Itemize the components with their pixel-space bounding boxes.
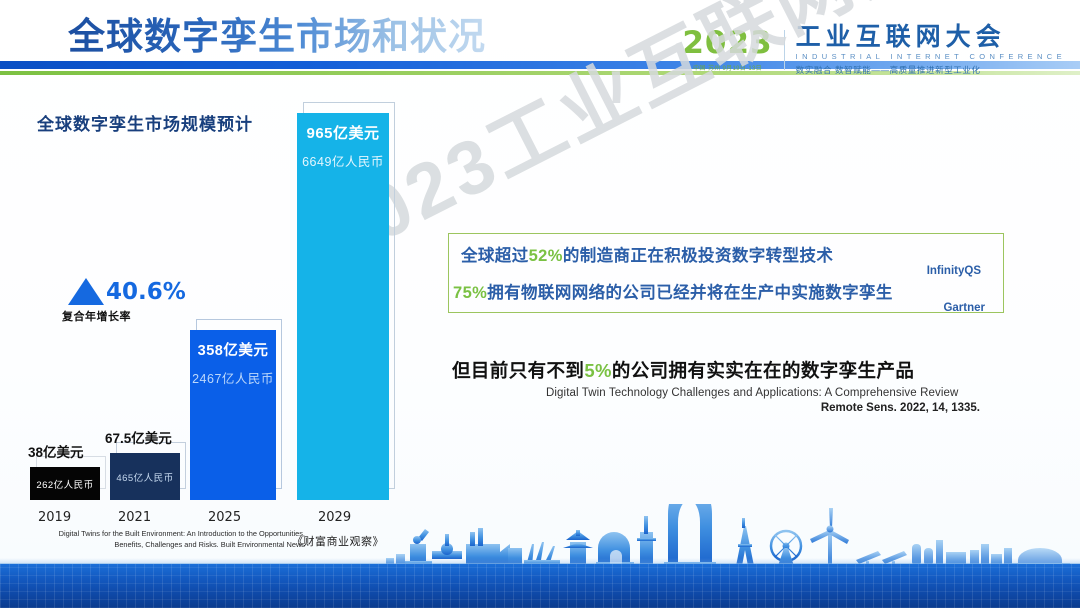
logo-date: 中国·苏州 9月19日-13日	[682, 63, 772, 72]
bar-body: 965亿美元 6649亿人民币	[297, 113, 389, 500]
cagr-label: 复合年增长率	[62, 308, 131, 324]
stats-line2-post: 拥有物联网网络的公司已经并将在生产中实施数字孪生	[487, 284, 893, 302]
stats-line1-pct: 52%	[529, 247, 563, 265]
bar-value-cny: 6649亿人民币	[302, 151, 384, 170]
stats-line-2: 75%拥有物联网网络的公司已经并将在生产中实施数字孪生	[453, 279, 893, 303]
claim-statement: 但目前只有不到5%的公司拥有实实在在的数字孪生产品	[452, 357, 914, 383]
claim-pct: 5%	[584, 360, 612, 381]
bar-2025: 358亿美元 2467亿人民币 2025	[190, 330, 276, 500]
claim-post: 的公司拥有实实在在的数字孪生产品	[612, 360, 914, 381]
claim-citation-line1: Digital Twin Technology Challenges and A…	[546, 387, 958, 399]
bar-value-usd: 38亿美元	[28, 441, 84, 461]
stats-line-1: 全球超过52%的制造商正在积极投资数字转型技术	[461, 242, 833, 266]
bar-value-usd: 358亿美元	[198, 339, 269, 360]
bar-value-cny: 465亿人民币	[116, 470, 173, 484]
conference-logo: 2023 中国·苏州 9月19日-13日 工业互联网大会 INDUSTRIAL …	[682, 24, 1066, 76]
logo-name-cn: 工业互联网大会	[796, 24, 1066, 50]
stats-box: 全球超过52%的制造商正在积极投资数字转型技术 InfinityQS 75%拥有…	[448, 233, 1004, 313]
logo-name-en: INDUSTRIAL INTERNET CONFERENCE	[796, 52, 1066, 61]
claim-pre: 但目前只有不到	[452, 360, 584, 381]
stats-line2-pct: 75%	[453, 284, 487, 302]
bar-value-cny: 2467亿人民币	[192, 368, 274, 387]
stats-line2-source: Gartner	[943, 302, 985, 314]
bar-body: 465亿人民币	[110, 453, 180, 500]
cagr-value: 40.6%	[106, 279, 186, 305]
claim-citation-line2: Remote Sens. 2022, 14, 1335.	[821, 402, 980, 414]
bar-2019: 262亿人民币 38亿美元 2019	[30, 467, 100, 500]
logo-slogan: 数实融合 数智赋能——高质量推进新型工业化	[796, 64, 1066, 76]
cagr-indicator: 40.6%	[68, 278, 186, 305]
bar-2029: 965亿美元 6649亿人民币 2029	[297, 113, 389, 500]
stats-line1-source: InfinityQS	[927, 265, 981, 277]
bar-body: 358亿美元 2467亿人民币	[190, 330, 276, 500]
stats-line1-pre: 全球超过	[461, 247, 529, 265]
logo-year: 2023	[682, 28, 772, 59]
triangle-up-icon	[68, 278, 104, 305]
bar-value-cny: 262亿人民币	[36, 477, 93, 491]
bar-body: 262亿人民币	[30, 467, 100, 500]
logo-year-block: 2023 中国·苏州 9月19日-13日	[682, 28, 783, 72]
bar-chart: 262亿人民币 38亿美元 2019 465亿人民币 67.5亿美元 2021 …	[0, 0, 430, 560]
bar-value-usd: 965亿美元	[306, 122, 379, 143]
bar-value-usd: 67.5亿美元	[105, 427, 172, 447]
slide-root: 全球数字孪生市场和状况 2023 中国·苏州 9月19日-13日 工业互联网大会…	[0, 0, 1080, 608]
bottom-band	[0, 564, 1080, 608]
stats-line1-post: 的制造商正在积极投资数字转型技术	[563, 247, 833, 265]
logo-name-block: 工业互联网大会 INDUSTRIAL INTERNET CONFERENCE 数…	[785, 24, 1066, 76]
bar-2021: 465亿人民币 67.5亿美元 2021	[110, 453, 180, 500]
skyline-illustration	[0, 504, 1080, 566]
